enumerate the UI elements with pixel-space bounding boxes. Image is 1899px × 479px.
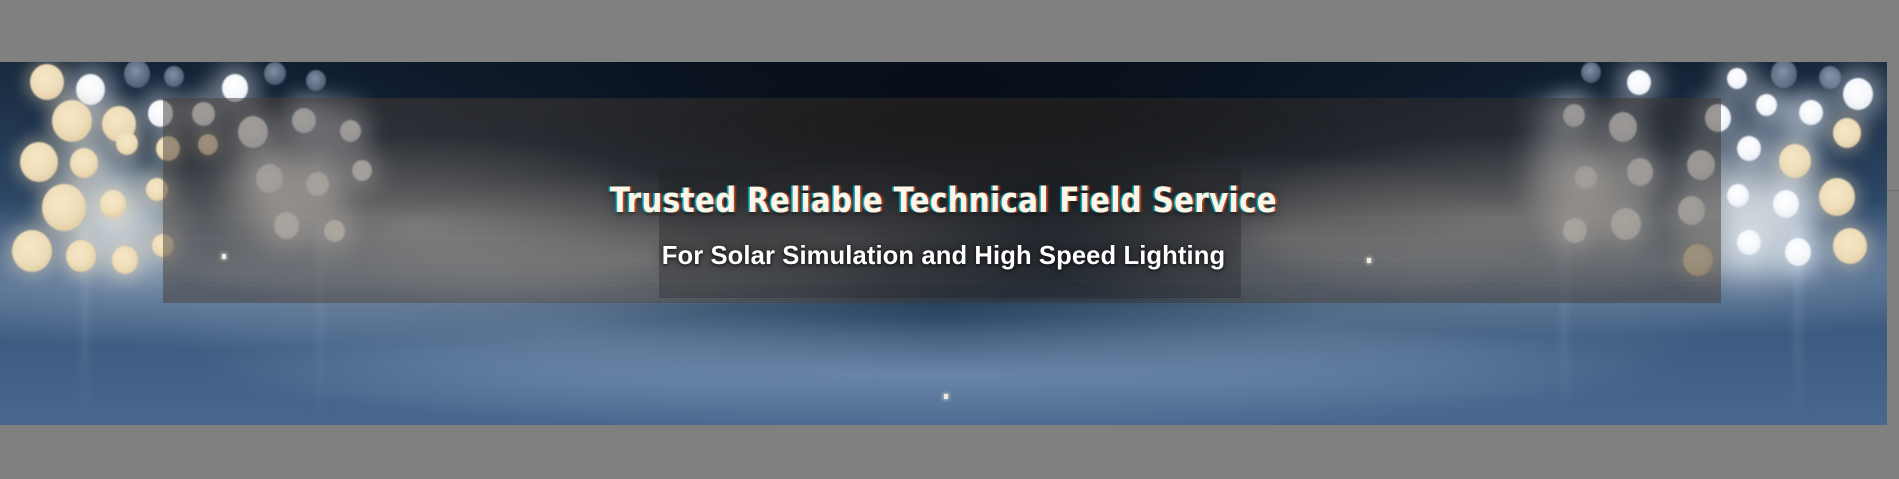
bokeh-dot	[1843, 78, 1873, 110]
bokeh-dot	[1799, 100, 1823, 125]
bokeh-dot	[1581, 62, 1601, 83]
bokeh-dot	[116, 132, 138, 155]
bokeh-dot	[1779, 144, 1811, 178]
edge-divider	[1887, 190, 1899, 191]
page-subtitle: For Solar Simulation and High Speed Ligh…	[14, 242, 1873, 268]
bokeh-dot	[1727, 68, 1747, 89]
page-title: Trusted Reliable Technical Field Service	[66, 184, 1821, 219]
bokeh-dot	[124, 62, 150, 88]
bokeh-dot	[52, 100, 92, 142]
bokeh-dot	[164, 66, 184, 87]
bokeh-dot	[1819, 66, 1841, 89]
bokeh-dot	[30, 64, 64, 100]
light-speck	[944, 394, 948, 399]
bokeh-dot	[70, 148, 98, 178]
bokeh-dot	[20, 142, 58, 182]
bokeh-dot	[306, 70, 326, 91]
bokeh-dot	[1627, 70, 1651, 95]
bokeh-dot	[1756, 94, 1777, 116]
bokeh-dot	[1771, 62, 1797, 88]
hero-banner: Trusted Reliable Technical Field Service…	[0, 62, 1887, 425]
bokeh-dot	[76, 74, 105, 105]
bokeh-dot	[1833, 118, 1861, 148]
hero-copy: Trusted Reliable Technical Field Service…	[0, 184, 1887, 268]
page-root: Trusted Reliable Technical Field Service…	[0, 0, 1899, 479]
bokeh-dot	[264, 62, 286, 85]
right-gray-strip	[1887, 62, 1899, 425]
